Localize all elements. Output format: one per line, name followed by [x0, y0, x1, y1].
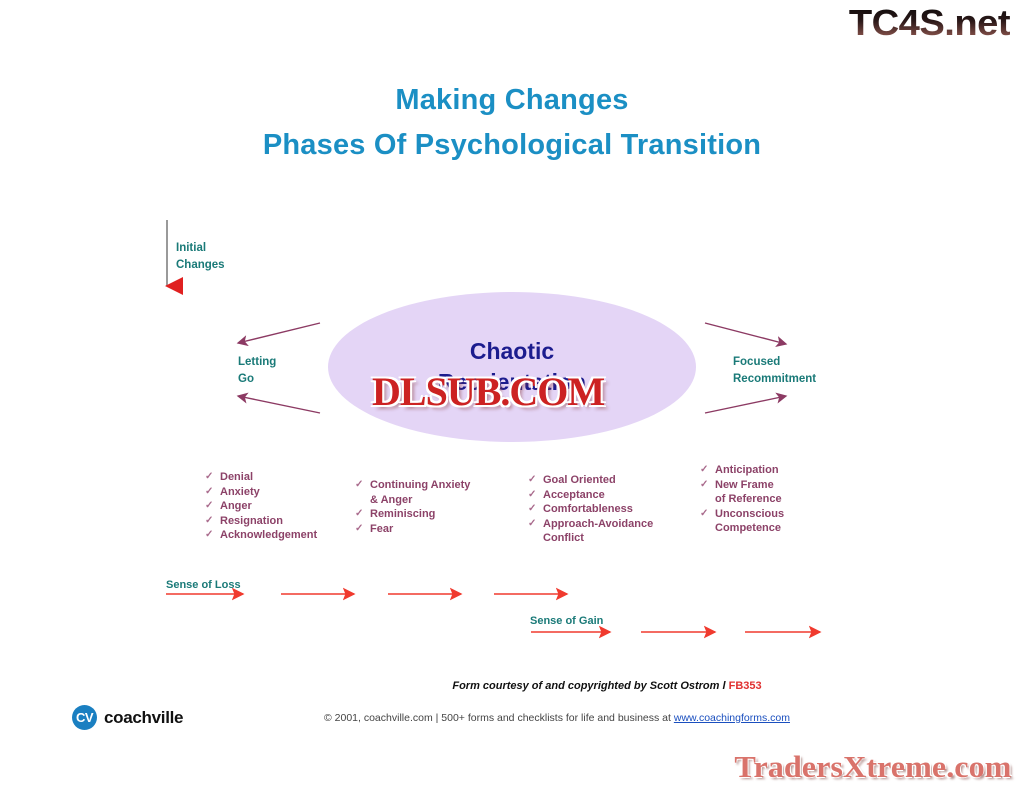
arrow-focused-recommitment-lower — [705, 396, 786, 413]
list-item-label: Fear — [370, 522, 393, 537]
list-item: ✓Unconscious — [700, 507, 784, 522]
list-item-label: Goal Oriented — [543, 473, 616, 488]
list-item: ✓Conflict — [528, 531, 653, 546]
list-item-label: Approach-Avoidance — [543, 517, 653, 532]
list-item: ✓Anxiety — [205, 485, 317, 500]
label-focused-recommitment: Focused Recommitment — [733, 354, 816, 387]
check-icon: ✓ — [205, 499, 220, 513]
list-item: ✓Denial — [205, 470, 317, 485]
list-item-label: Denial — [220, 470, 253, 485]
label-letting-go: Letting Go — [238, 354, 276, 387]
check-icon: ✓ — [528, 517, 543, 531]
check-icon: ✓ — [528, 473, 543, 487]
check-icon: ✓ — [528, 502, 543, 516]
dlsub-watermark: DLSUB.COM — [372, 368, 604, 415]
page-title: Making Changes Phases Of Psychological T… — [0, 78, 1024, 168]
check-icon-placeholder: ✓ — [528, 531, 543, 545]
list-item: ✓Comfortableness — [528, 502, 653, 517]
tc4s-watermark: TC4S.net — [849, 2, 1010, 44]
check-icon: ✓ — [205, 514, 220, 528]
list-item-label: Comfortableness — [543, 502, 633, 517]
list-item-label: & Anger — [370, 493, 412, 508]
list-item: ✓Anger — [205, 499, 317, 514]
checklist-column-focused-recommitment: ✓Anticipation ✓New Frame ✓of Reference ✓… — [700, 463, 784, 536]
list-item-label: Anxiety — [220, 485, 260, 500]
list-item: ✓Resignation — [205, 514, 317, 529]
checklist-column-reorientation: ✓Goal Oriented ✓Acceptance ✓Comfortablen… — [528, 473, 653, 546]
arrow-letting-go-lower — [238, 396, 320, 413]
check-icon-placeholder: ✓ — [355, 493, 370, 507]
list-item: ✓of Reference — [700, 492, 784, 507]
list-item: ✓Competence — [700, 521, 784, 536]
label-sense-of-gain: Sense of Gain — [530, 614, 603, 630]
ellipse-label-line-1: Chaotic — [328, 336, 696, 367]
form-credit-text: Form courtesy of and copyrighted by Scot… — [452, 680, 728, 692]
list-item: ✓& Anger — [355, 493, 470, 508]
checklist-column-letting-go: ✓Denial ✓Anxiety ✓Anger ✓Resignation ✓Ac… — [205, 470, 317, 543]
check-icon: ✓ — [700, 507, 715, 521]
coachville-wordmark: coachville — [104, 708, 183, 728]
list-item-label: Reminiscing — [370, 507, 435, 522]
list-item-label: New Frame — [715, 478, 774, 493]
list-item-label: Acceptance — [543, 488, 605, 503]
list-item-label: Anger — [220, 499, 252, 514]
list-item: ✓Anticipation — [700, 463, 784, 478]
check-icon: ✓ — [355, 478, 370, 492]
title-line-2: Phases Of Psychological Transition — [0, 123, 1024, 168]
arrow-focused-recommitment-upper — [705, 323, 786, 344]
list-item-label: Conflict — [543, 531, 584, 546]
arrow-letting-go-upper — [238, 323, 320, 343]
label-sense-of-loss: Sense of Loss — [166, 578, 241, 594]
check-icon: ✓ — [700, 463, 715, 477]
check-icon: ✓ — [205, 470, 220, 484]
check-icon-placeholder: ✓ — [700, 492, 715, 506]
label-initial-changes: Initial Changes — [176, 240, 225, 273]
list-item-label: of Reference — [715, 492, 782, 507]
coachingforms-link[interactable]: www.coachingforms.com — [674, 712, 790, 724]
form-code: FB353 — [729, 680, 762, 692]
cv-badge-icon: CV — [72, 705, 97, 730]
check-icon: ✓ — [700, 478, 715, 492]
list-item-label: Resignation — [220, 514, 283, 529]
title-line-1: Making Changes — [395, 84, 628, 116]
check-icon: ✓ — [355, 522, 370, 536]
check-icon: ✓ — [528, 488, 543, 502]
list-item-label: Continuing Anxiety — [370, 478, 470, 493]
list-item-label: Competence — [715, 521, 781, 536]
check-icon: ✓ — [205, 485, 220, 499]
list-item: ✓Approach-Avoidance — [528, 517, 653, 532]
coachville-logo: CV coachville — [72, 705, 183, 730]
list-item-label: Acknowledgement — [220, 528, 317, 543]
checklist-column-chaotic-early: ✓Continuing Anxiety ✓& Anger ✓Reminiscin… — [355, 478, 470, 536]
list-item-label: Anticipation — [715, 463, 779, 478]
check-icon: ✓ — [355, 507, 370, 521]
copyright-text: © 2001, coachville.com | 500+ forms and … — [324, 712, 674, 724]
list-item: ✓Reminiscing — [355, 507, 470, 522]
check-icon: ✓ — [205, 528, 220, 542]
check-icon-placeholder: ✓ — [700, 521, 715, 535]
list-item: ✓Fear — [355, 522, 470, 537]
list-item: ✓New Frame — [700, 478, 784, 493]
list-item: ✓Acceptance — [528, 488, 653, 503]
document-page: TC4S.net Making Changes Phases Of Psycho… — [0, 0, 1024, 791]
form-credit: Form courtesy of and copyrighted by Scot… — [0, 680, 1024, 692]
list-item: ✓Acknowledgement — [205, 528, 317, 543]
tradersxtreme-watermark: TradersXtreme.com — [735, 749, 1012, 785]
list-item: ✓Continuing Anxiety — [355, 478, 470, 493]
list-item: ✓Goal Oriented — [528, 473, 653, 488]
list-item-label: Unconscious — [715, 507, 784, 522]
